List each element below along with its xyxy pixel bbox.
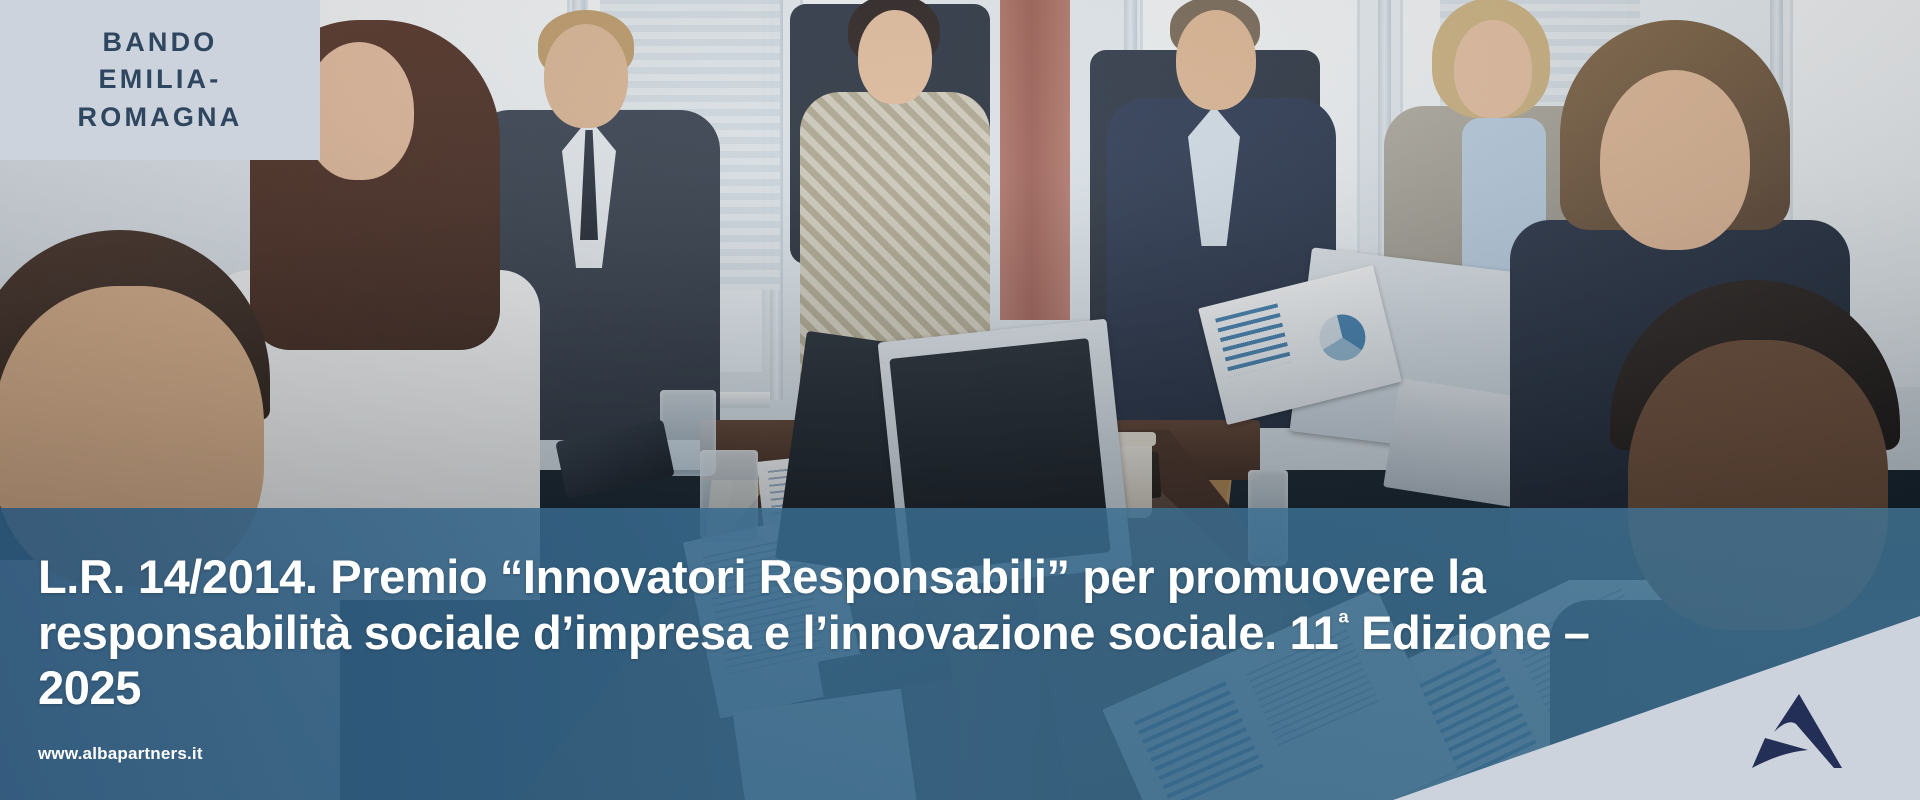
coffee-cup-lid [1114,432,1156,446]
pie-chart [1315,310,1371,366]
albapartners-logo-icon[interactable] [1738,690,1850,772]
website-url[interactable]: www.albapartners.it [38,744,203,764]
person-head [1176,10,1256,110]
person-head [1600,70,1750,250]
banner: BANDO EMILIA- ROMAGNA L.R. 14/2014. Prem… [0,0,1920,800]
ordinal-suffix: ª [1338,606,1348,638]
bando-badge-label: BANDO EMILIA- ROMAGNA [45,24,275,136]
bar-chart [1215,303,1292,377]
bando-badge: BANDO EMILIA- ROMAGNA [0,0,320,160]
page-title: L.R. 14/2014. Premio “Innovatori Respons… [38,549,1678,715]
person-head [304,42,414,180]
person-head [1454,20,1532,118]
person-head [858,10,932,104]
page-title-main: L.R. 14/2014. Premio “Innovatori Respons… [38,550,1486,658]
